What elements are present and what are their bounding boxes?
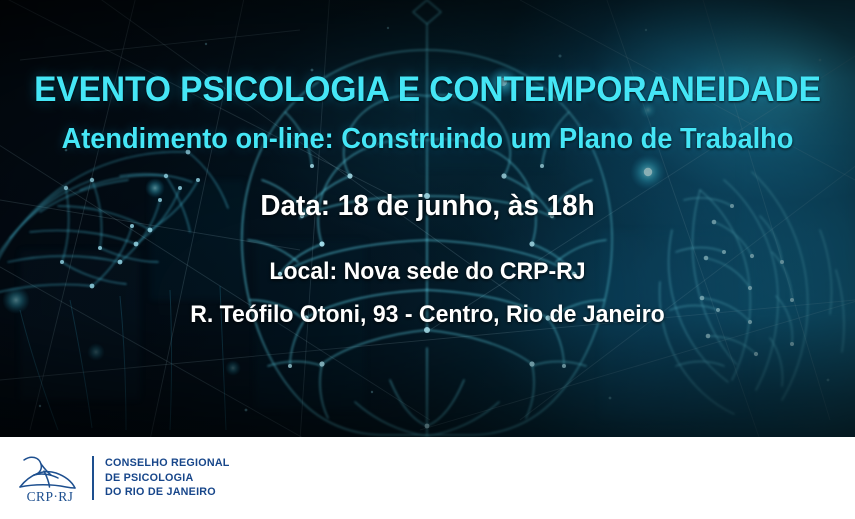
banner-content: EVENTO PSICOLOGIA E CONTEMPORANEIDADE At… bbox=[0, 0, 855, 437]
bird-mark-svg: CRP·RJ bbox=[14, 451, 86, 505]
banner-footer: CRP·RJ CONSELHO REGIONAL DE PSICOLOGIA D… bbox=[0, 437, 855, 519]
event-address: R. Teófilo Otoni, 93 - Centro, Rio de Ja… bbox=[17, 300, 838, 330]
event-venue: Local: Nova sede do CRP-RJ bbox=[17, 257, 838, 287]
event-title: EVENTO PSICOLOGIA E CONTEMPORANEIDADE bbox=[24, 69, 832, 109]
crp-rj-wordmark: CRP·RJ bbox=[27, 489, 74, 504]
logo-line-1: CONSELHO REGIONAL bbox=[105, 456, 230, 470]
logo-line-2: DE PSICOLOGIA bbox=[105, 471, 230, 485]
event-subtitle: Atendimento on-line: Construindo um Plan… bbox=[19, 122, 836, 156]
event-banner: EVENTO PSICOLOGIA E CONTEMPORANEIDADE At… bbox=[0, 0, 855, 519]
logo-divider bbox=[92, 456, 94, 500]
crp-rj-logo[interactable]: CRP·RJ CONSELHO REGIONAL DE PSICOLOGIA D… bbox=[14, 451, 234, 505]
crp-rj-bird-logo-icon: CRP·RJ bbox=[14, 451, 86, 505]
logo-line-3: DO RIO DE JANEIRO bbox=[105, 485, 230, 499]
event-date: Data: 18 de junho, às 18h bbox=[17, 188, 838, 224]
logo-org-name: CONSELHO REGIONAL DE PSICOLOGIA DO RIO D… bbox=[105, 456, 230, 499]
